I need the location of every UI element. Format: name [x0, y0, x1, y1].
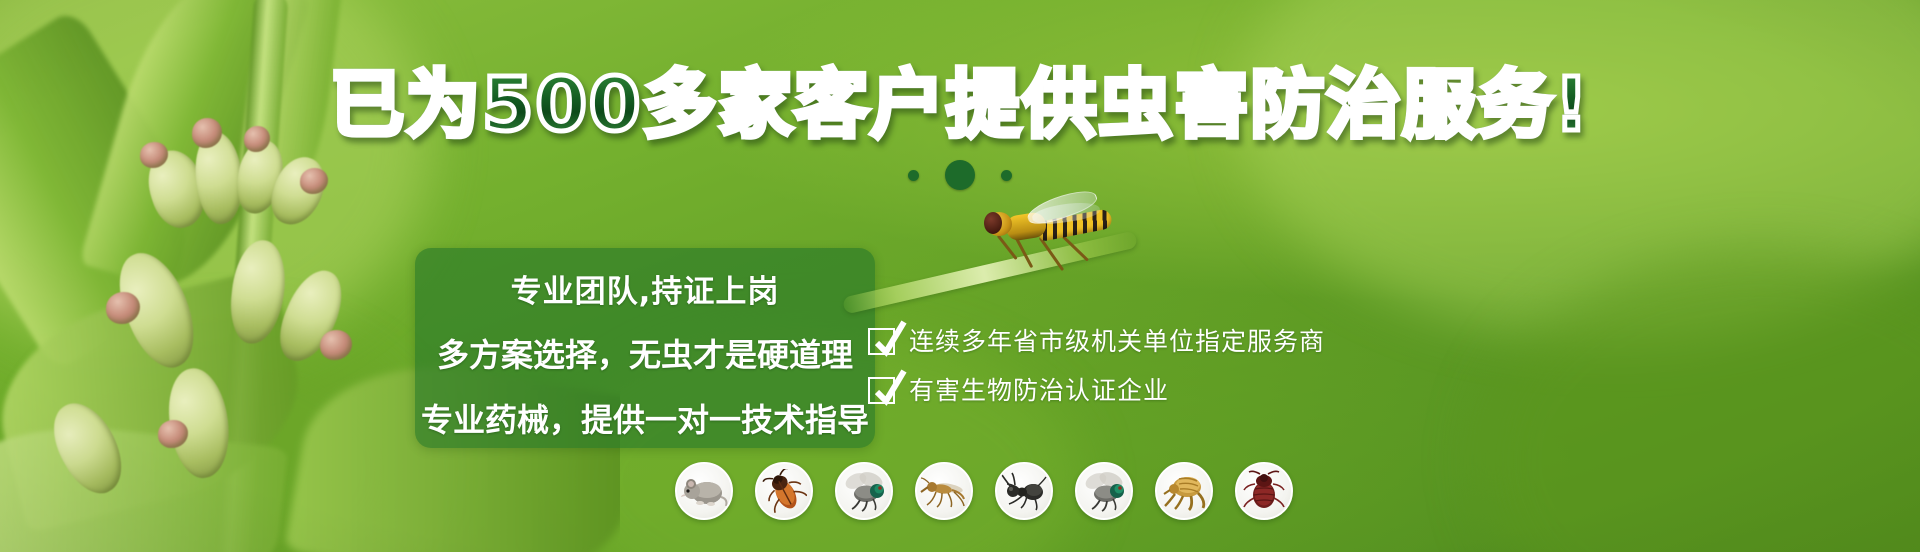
feature-item: 连续多年省市级机关单位指定服务商 [868, 328, 1325, 355]
cockroach-icon [761, 469, 807, 513]
ant-icon [1001, 470, 1047, 512]
mosquito-icon [920, 470, 968, 512]
flea-icon [1161, 470, 1207, 512]
pest-icon-mouse[interactable] [675, 462, 733, 520]
bedbug-icon [1241, 469, 1287, 513]
pest-icon-row [675, 462, 1293, 520]
decorative-dot-large [945, 160, 975, 190]
decorative-dot-small [1001, 170, 1012, 181]
feature-label: 连续多年省市级机关单位指定服务商 [909, 329, 1325, 354]
feature-item: 有害生物防治认证企业 [868, 377, 1325, 404]
pest-icon-ant[interactable] [995, 462, 1053, 520]
pest-icon-mosquito[interactable] [915, 462, 973, 520]
pest-icon-fly[interactable] [835, 462, 893, 520]
pest-icon-cockroach[interactable] [755, 462, 813, 520]
grass-stalk [842, 230, 1138, 314]
plant-bud-tip [320, 330, 352, 360]
pest-icon-blowfly[interactable] [1075, 462, 1133, 520]
checkbox-checked-icon [868, 377, 895, 404]
decorative-dot-row [0, 160, 1920, 190]
background-bokeh-blob [1480, 250, 1920, 552]
pest-icon-flea[interactable] [1155, 462, 1213, 520]
slogan-line-2: 多方案选择，无虫才是硬道理 [415, 330, 875, 376]
decorative-dot-small [908, 170, 919, 181]
feature-list: 连续多年省市级机关单位指定服务商 有害生物防治认证企业 [868, 328, 1325, 426]
feature-label: 有害生物防治认证企业 [909, 378, 1169, 403]
hoverfly-illustration [840, 190, 1220, 330]
fly-icon [840, 470, 888, 512]
pest-control-hero-banner: 已为500多家客户提供虫害防治服务! 专业团队,持证上岗 多方案选择，无虫才是硬… [0, 0, 1920, 552]
mouse-icon [680, 471, 728, 511]
slogan-line-1: 专业团队,持证上岗 [415, 266, 875, 311]
banner-headline-text: 已为500多家客户提供虫害防治服务! [330, 62, 1590, 148]
blowfly-icon [1080, 470, 1128, 512]
slogan-panel: 专业团队,持证上岗 多方案选择，无虫才是硬道理 专业药械，提供一对一技术指导 [415, 248, 875, 448]
fly-eye [984, 212, 1002, 234]
pest-icon-bedbug[interactable] [1235, 462, 1293, 520]
slogan-line-3: 专业药械，提供一对一技术指导 [415, 395, 875, 441]
checkbox-checked-icon [868, 328, 895, 355]
banner-headline: 已为500多家客户提供虫害防治服务! [0, 68, 1920, 142]
